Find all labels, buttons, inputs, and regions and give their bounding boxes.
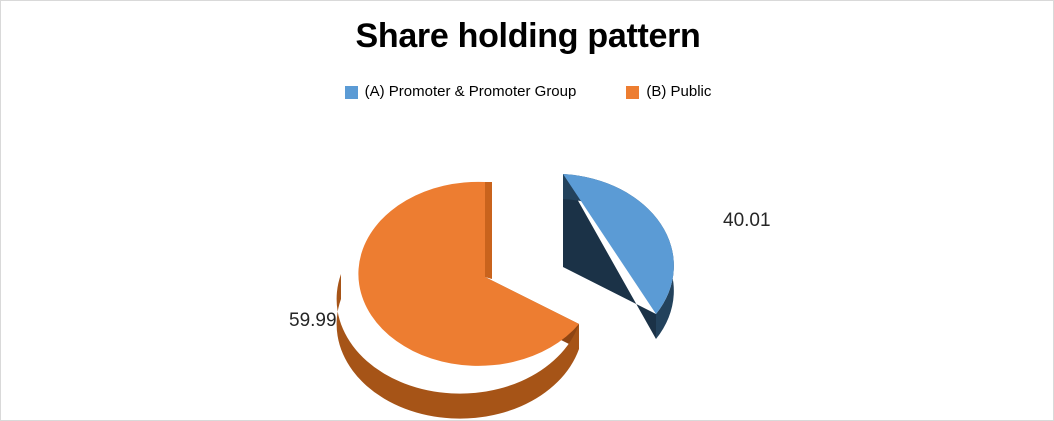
pie-slice-public-top: [358, 182, 579, 366]
pie-plot-area: 40.01 59.99: [1, 1, 1054, 421]
chart-container: Share holding pattern (A) Promoter & Pro…: [0, 0, 1054, 421]
data-label-public: 59.99: [289, 310, 337, 331]
pie-slice-public[interactable]: [337, 182, 579, 419]
pie-slice-public-cut-face-upper: [485, 182, 492, 279]
data-label-promoter: 40.01: [723, 210, 771, 231]
pie-slice-promoter[interactable]: [563, 174, 674, 339]
